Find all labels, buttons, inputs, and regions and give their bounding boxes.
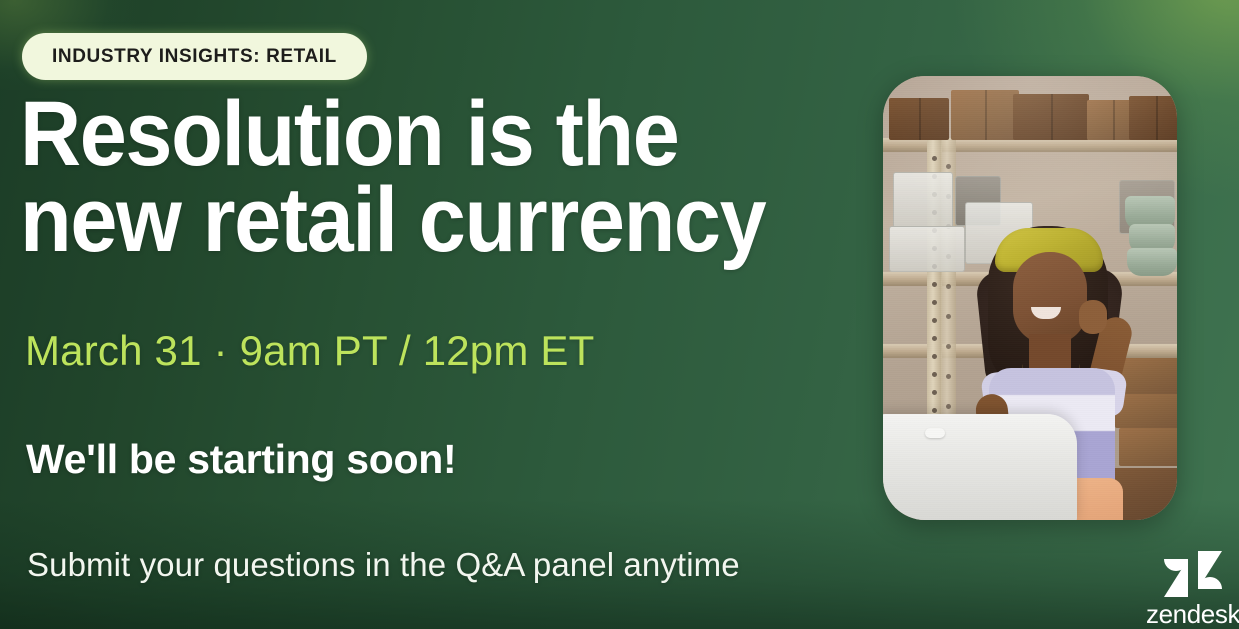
status-message: We'll be starting soon! bbox=[26, 436, 456, 483]
page-title: Resolution is the new retail currency bbox=[20, 92, 860, 263]
qa-instruction-text: Submit your questions in the Q&A panel a… bbox=[27, 546, 740, 584]
speaker-photo-scene bbox=[883, 76, 1177, 520]
zendesk-logo: zendesk bbox=[1146, 551, 1238, 629]
category-badge: INDUSTRY INSIGHTS: RETAIL bbox=[22, 33, 367, 80]
photo-person-hand-right bbox=[1079, 300, 1107, 334]
zendesk-wordmark: zendesk bbox=[1146, 601, 1238, 627]
category-badge-label: INDUSTRY INSIGHTS: RETAIL bbox=[52, 46, 337, 68]
photo-counter bbox=[883, 414, 1077, 520]
photo-counter-object bbox=[925, 428, 945, 438]
webinar-holding-slide: INDUSTRY INSIGHTS: RETAIL Resolution is … bbox=[0, 0, 1239, 629]
speaker-photo bbox=[883, 76, 1177, 520]
schedule-text: March 31 · 9am PT / 12pm ET bbox=[25, 327, 595, 375]
page-title-line-1: Resolution is the bbox=[20, 92, 793, 178]
photo-person-face bbox=[1013, 252, 1087, 344]
page-title-line-2: new retail currency bbox=[20, 178, 793, 264]
zendesk-logo-mark bbox=[1162, 551, 1224, 597]
